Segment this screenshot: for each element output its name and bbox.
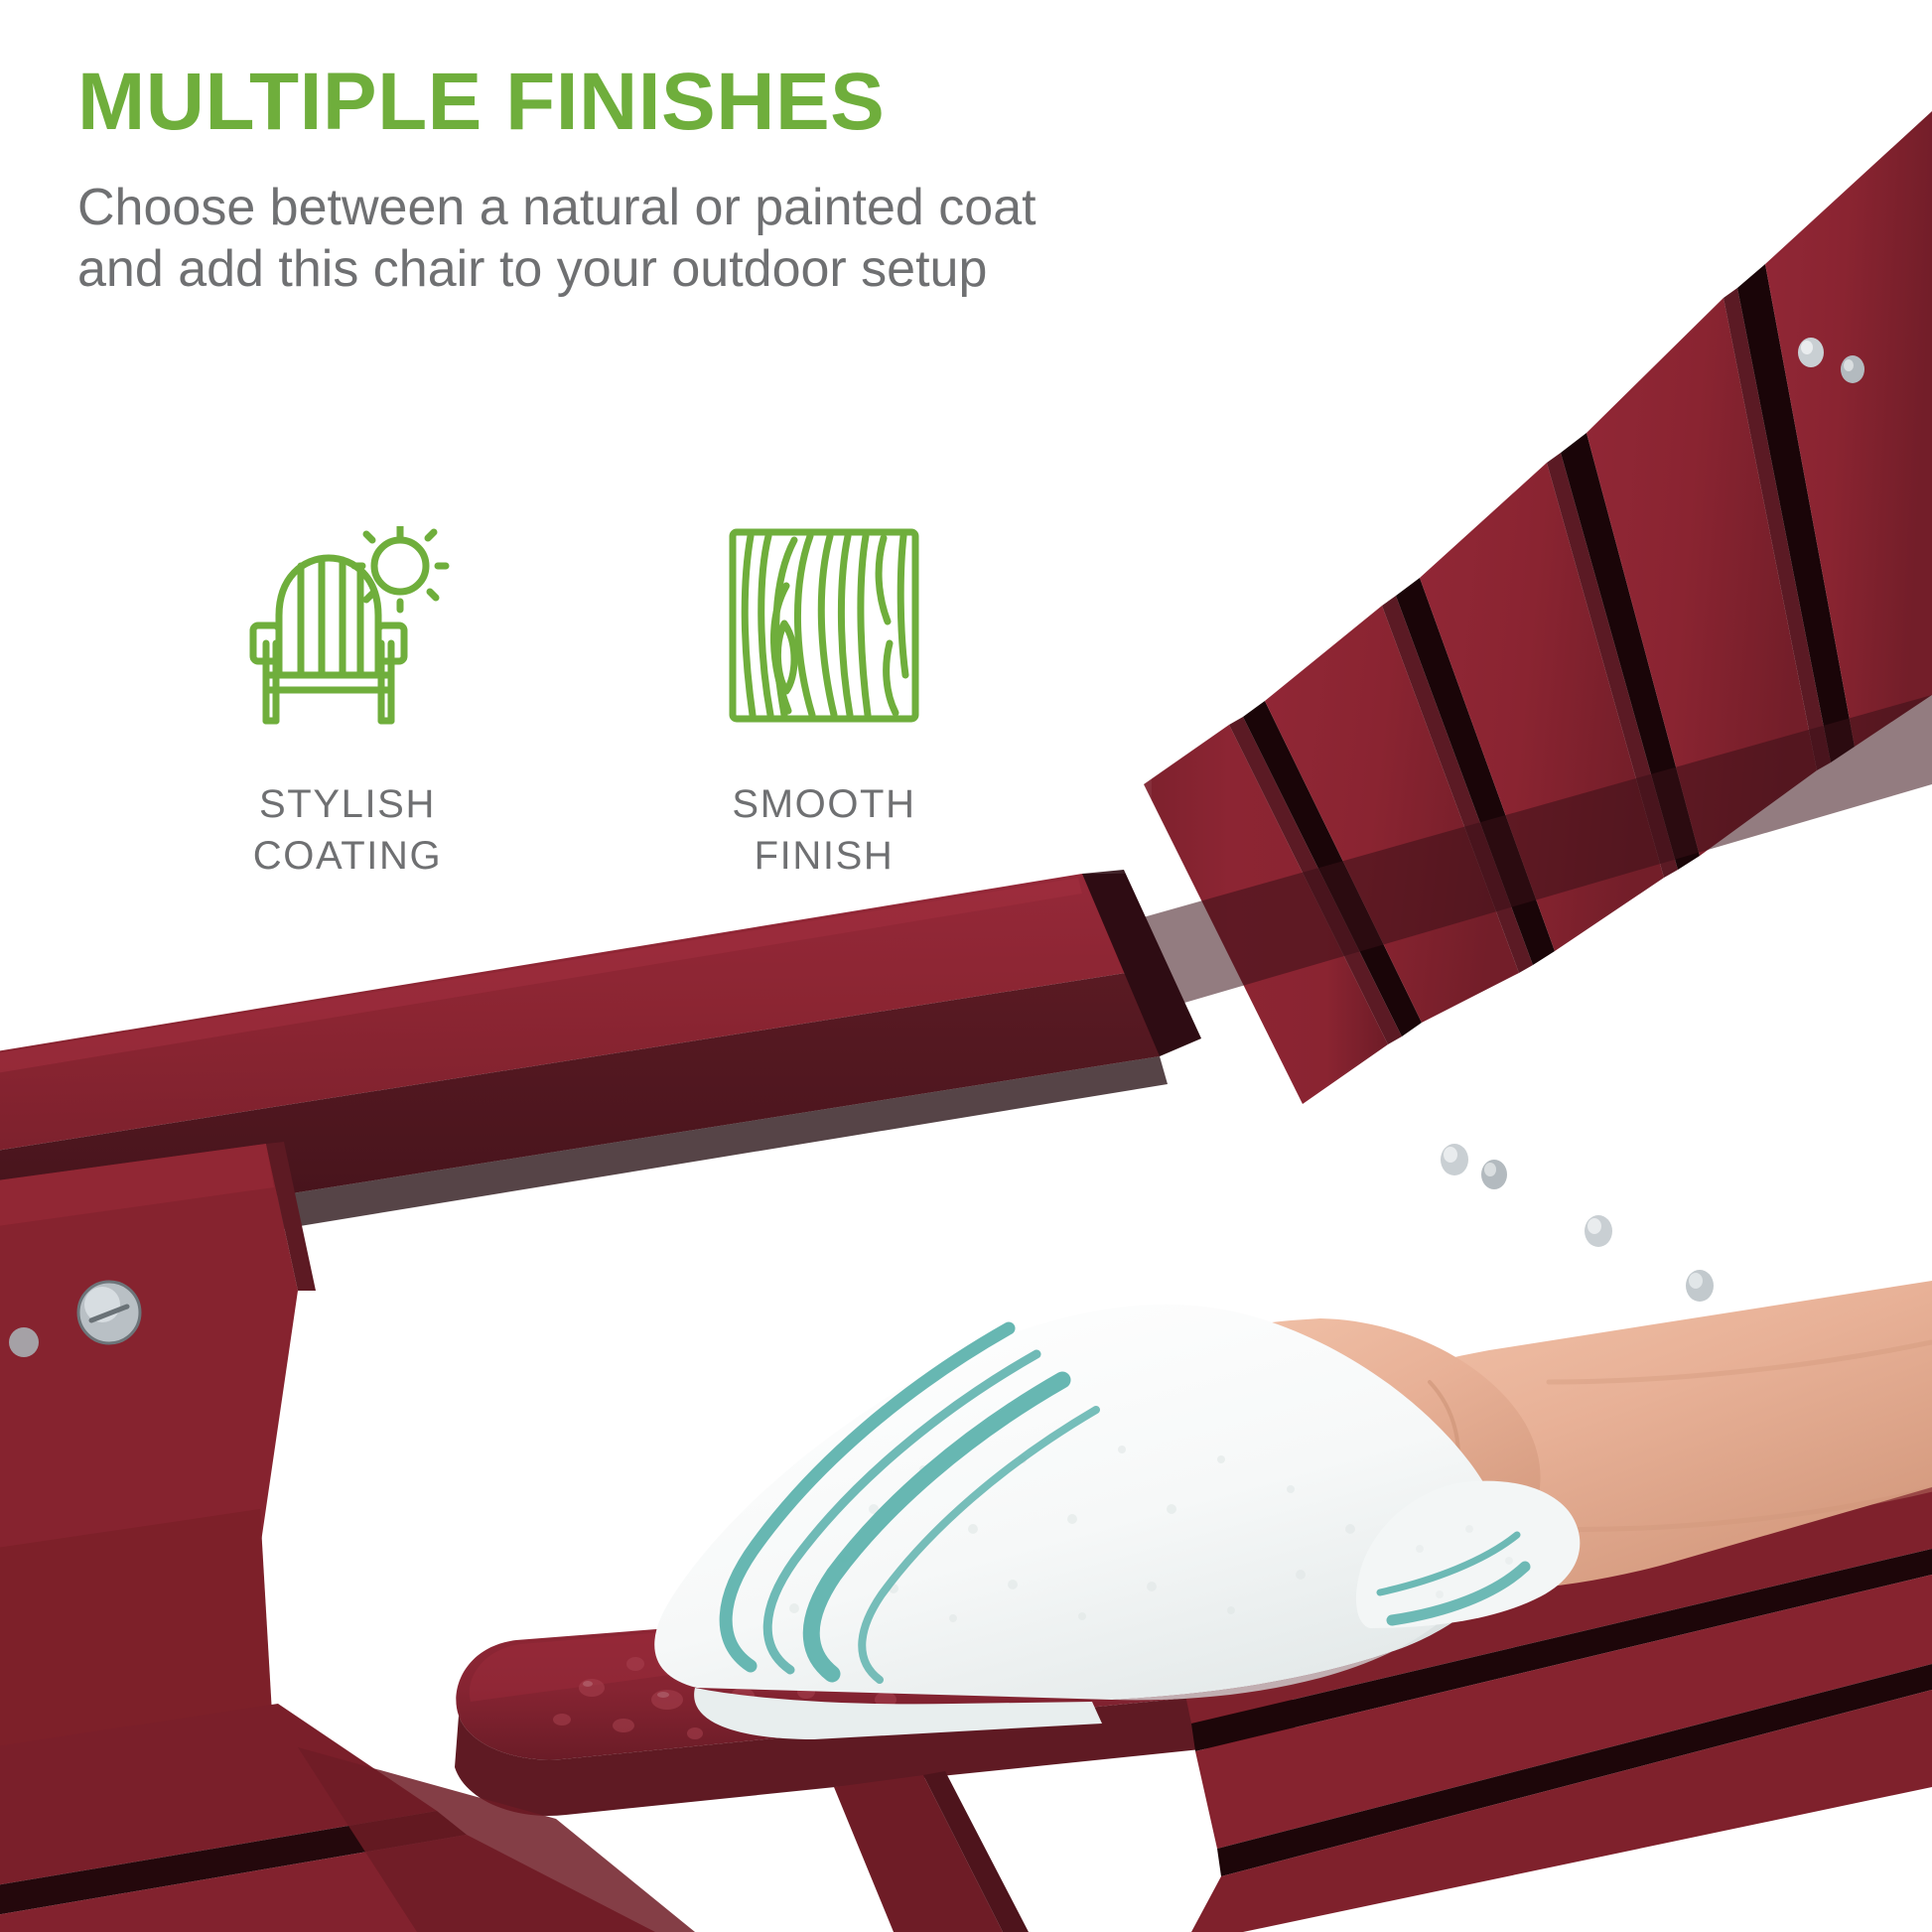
feature-stylish-coating: STYLISH COATING xyxy=(199,506,496,882)
subtitle: Choose between a natural or painted coat… xyxy=(77,177,1249,301)
feature-label-stylish-coating: STYLISH COATING xyxy=(253,778,442,882)
feature-icon-box xyxy=(243,506,452,725)
feature-list: STYLISH COATING xyxy=(199,506,973,882)
chair-left-side-panel xyxy=(0,1142,316,1787)
feature-smooth-finish: SMOOTH FINISH xyxy=(675,506,973,882)
chair-support-leg xyxy=(834,1771,1029,1932)
wood-grain-plank-icon xyxy=(725,526,923,725)
adirondack-chair-sun-icon xyxy=(243,526,452,725)
subtitle-line-2: and add this chair to your outdoor setup xyxy=(77,238,1249,300)
page-title: MULTIPLE FINISHES xyxy=(77,62,1318,143)
marketing-image-canvas: MULTIPLE FINISHES Choose between a natur… xyxy=(0,0,1932,1932)
text-panel: MULTIPLE FINISHES Choose between a natur… xyxy=(77,62,1318,301)
feature-icon-box xyxy=(725,506,923,725)
feature-label-smooth-finish: SMOOTH FINISH xyxy=(732,778,915,882)
subtitle-line-1: Choose between a natural or painted coat xyxy=(77,179,1036,236)
